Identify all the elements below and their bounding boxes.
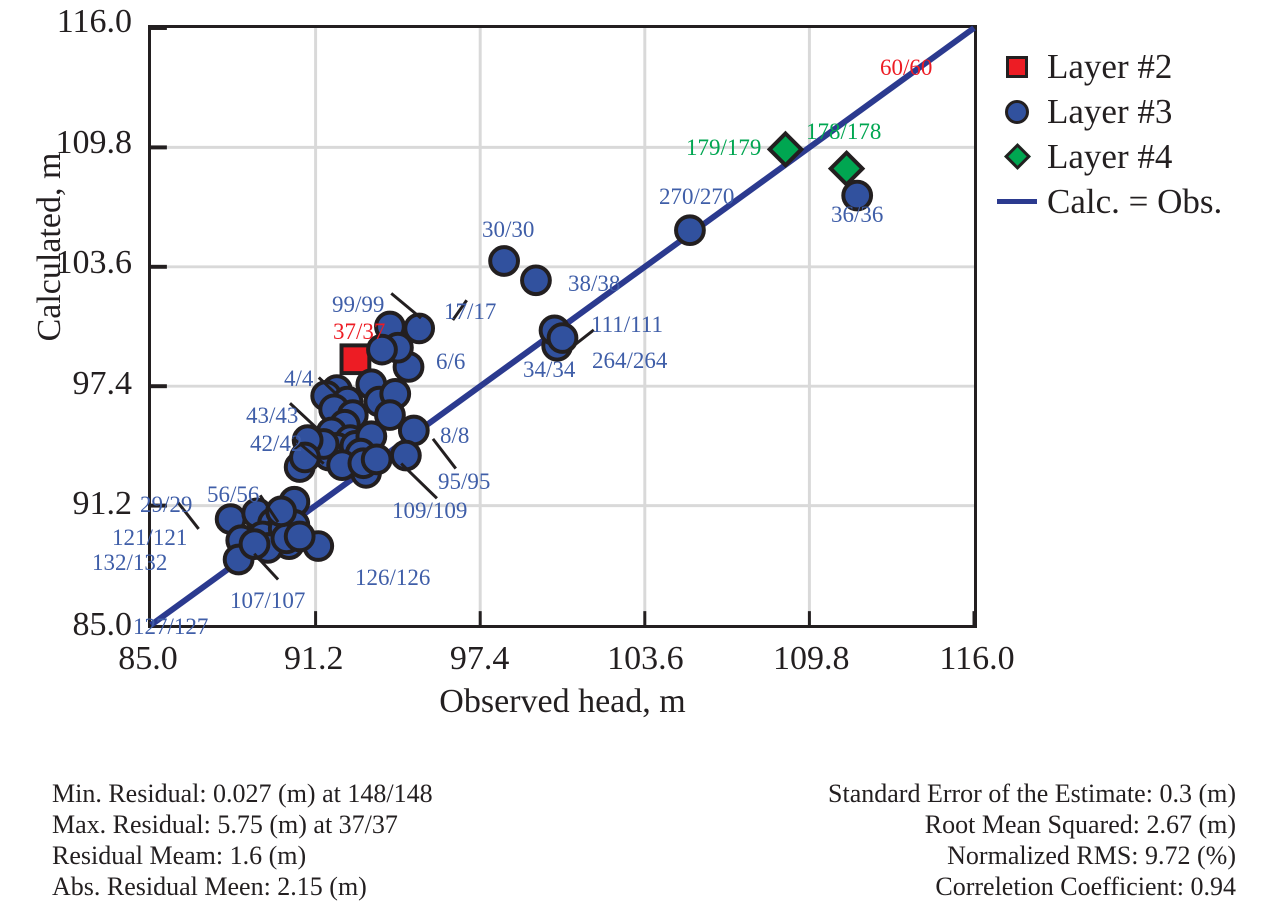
point-label-179-179: 179/179 [686,136,761,159]
point-label-95-95: 95/95 [438,470,490,493]
y-tick-116.0: 116.0 [0,5,132,39]
legend-item-1[interactable]: Layer #2 [995,44,1278,89]
point-label-17-17: 17/17 [444,300,496,323]
leader-line [401,464,437,499]
point-label-109-109: 109/109 [392,499,467,522]
data-point-95-95 [392,442,420,470]
x-tick-116.0: 116.0 [897,642,1057,676]
x-tick-103.6: 103.6 [565,642,725,676]
point-label-8-8: 8/8 [440,424,469,447]
legend-label: Layer #3 [1039,94,1172,129]
legend-label: Calc. = Obs. [1039,184,1222,219]
point-label-43-43: 43/43 [246,404,298,427]
plot-canvas [151,28,974,625]
x-tick-97.4: 97.4 [400,642,560,676]
stat-line-right-3: Normalized RMS: 9.72 (%) [639,840,1236,871]
diamond-marker-icon [995,147,1039,166]
stat-line-left-1: Min. Residual: 0.027 (m) at 148/148 [52,778,639,809]
point-label-4-4: 4/4 [284,367,313,390]
x-axis-title: Observed head, m [148,683,977,721]
point-label-56-56: 56/56 [207,483,259,506]
point-label-37-37: 37/37 [333,320,385,343]
stat-line-right-4: Correletion Coefficient: 0.94 [639,871,1236,902]
data-point-38-38 [522,266,550,294]
data-point-30-30 [490,247,518,275]
stat-line-left-2: Max. Residual: 5.75 (m) at 37/37 [52,809,639,840]
legend-label: Layer #4 [1039,139,1172,174]
point-label-38-38: 38/38 [568,272,620,295]
legend-item-2[interactable]: Layer #3 [995,89,1278,134]
point-label-30-30: 30/30 [482,218,534,241]
point-label-264-264: 264/264 [592,349,667,372]
point-label-178-178: 178/178 [806,120,881,143]
point-label-132-132: 132/132 [92,551,167,574]
point-label-29-29: 29/29 [140,493,192,516]
statistics-summary: Min. Residual: 0.027 (m) at 148/148Max. … [0,778,1278,902]
point-label-36-36: 36/36 [831,203,883,226]
scatter-chart-figure: 60/60178/178179/179270/27036/3630/3038/3… [0,0,1278,906]
line-swatch [997,199,1037,204]
y-tick-85.0: 85.0 [0,608,132,642]
point-label-126-126: 126/126 [355,566,430,589]
point-label-99-99: 99/99 [332,293,384,316]
circle-marker-icon [995,100,1039,124]
stat-line-right-1: Standard Error of the Estimate: 0.3 (m) [639,778,1236,809]
y-axis-title: Calculated, m [31,97,69,397]
data-point [363,446,391,474]
data-point-179-179 [770,133,802,165]
line-marker-icon [995,199,1039,204]
data-point [376,401,404,429]
x-tick-85.0: 85.0 [68,642,228,676]
statistics-left-column: Min. Residual: 0.027 (m) at 148/148Max. … [0,778,639,902]
point-label-127-127: 127/127 [133,615,208,638]
square-marker-icon [995,56,1039,78]
legend-item-4[interactable]: Calc. = Obs. [995,179,1278,224]
x-tick-91.2: 91.2 [234,642,394,676]
stat-line-right-2: Root Mean Squared: 2.67 (m) [639,809,1236,840]
point-label-42-42: 42/42 [250,432,302,455]
data-point-37-37 [342,345,370,373]
circle-swatch [1005,100,1029,124]
data-point-270-270 [676,216,704,244]
statistics-right-column: Standard Error of the Estimate: 0.3 (m)R… [639,778,1278,902]
point-label-34-34: 34/34 [523,358,575,381]
data-point [286,523,314,551]
stat-line-left-3: Residual Meam: 1.6 (m) [52,840,639,871]
plot-area [148,25,977,628]
legend: Layer #2Layer #3Layer #4Calc. = Obs. [995,44,1278,224]
point-label-6-6: 6/6 [436,350,465,373]
legend-item-3[interactable]: Layer #4 [995,134,1278,179]
point-label-60-60: 60/60 [880,56,932,79]
y-tick-91.2: 91.2 [0,487,132,521]
point-label-111-111: 111/111 [591,313,663,336]
point-label-107-107: 107/107 [230,589,305,612]
stat-line-left-4: Abs. Residual Meen: 2.15 (m) [52,871,639,902]
point-label-270-270: 270/270 [659,185,734,208]
square-swatch [1006,56,1028,78]
diamond-swatch [1004,143,1031,170]
point-label-121-121: 121/121 [112,526,187,549]
data-point-178-178 [831,153,863,185]
legend-label: Layer #2 [1039,49,1172,84]
x-tick-109.8: 109.8 [731,642,891,676]
